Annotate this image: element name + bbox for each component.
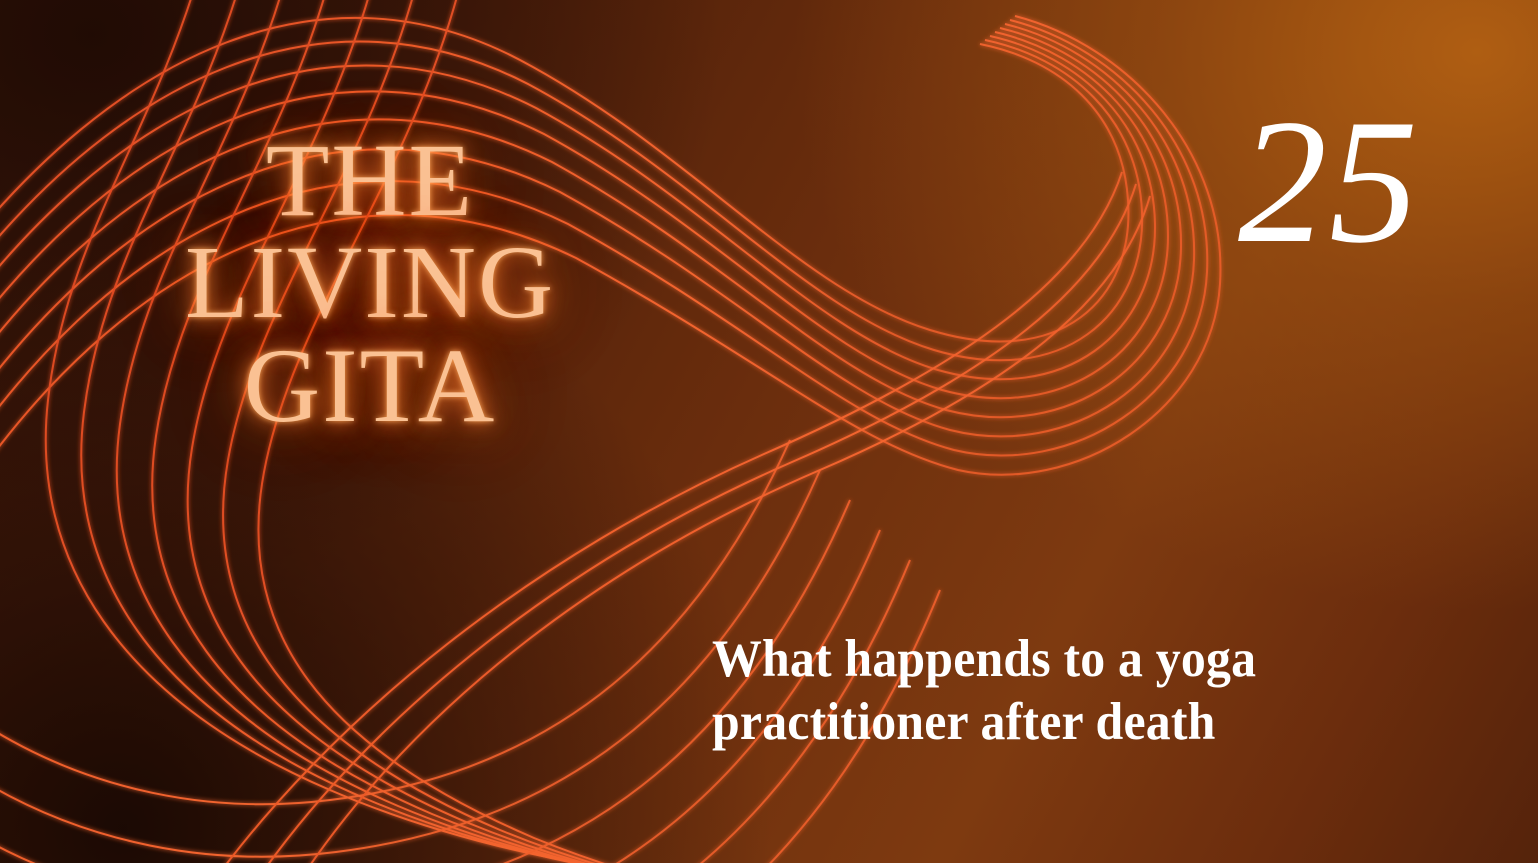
episode-subtitle: What happends to a yoga practitioner aft… bbox=[712, 628, 1426, 753]
title-line-gita: GITA bbox=[120, 334, 620, 438]
title-line-living: LIVING bbox=[120, 232, 620, 334]
episode-number: 25 bbox=[1238, 92, 1420, 270]
slide-canvas: THE LIVING GITA 25 What happends to a yo… bbox=[0, 0, 1538, 863]
title-line-the: THE bbox=[120, 130, 620, 232]
brand-title: THE LIVING GITA bbox=[120, 130, 620, 438]
